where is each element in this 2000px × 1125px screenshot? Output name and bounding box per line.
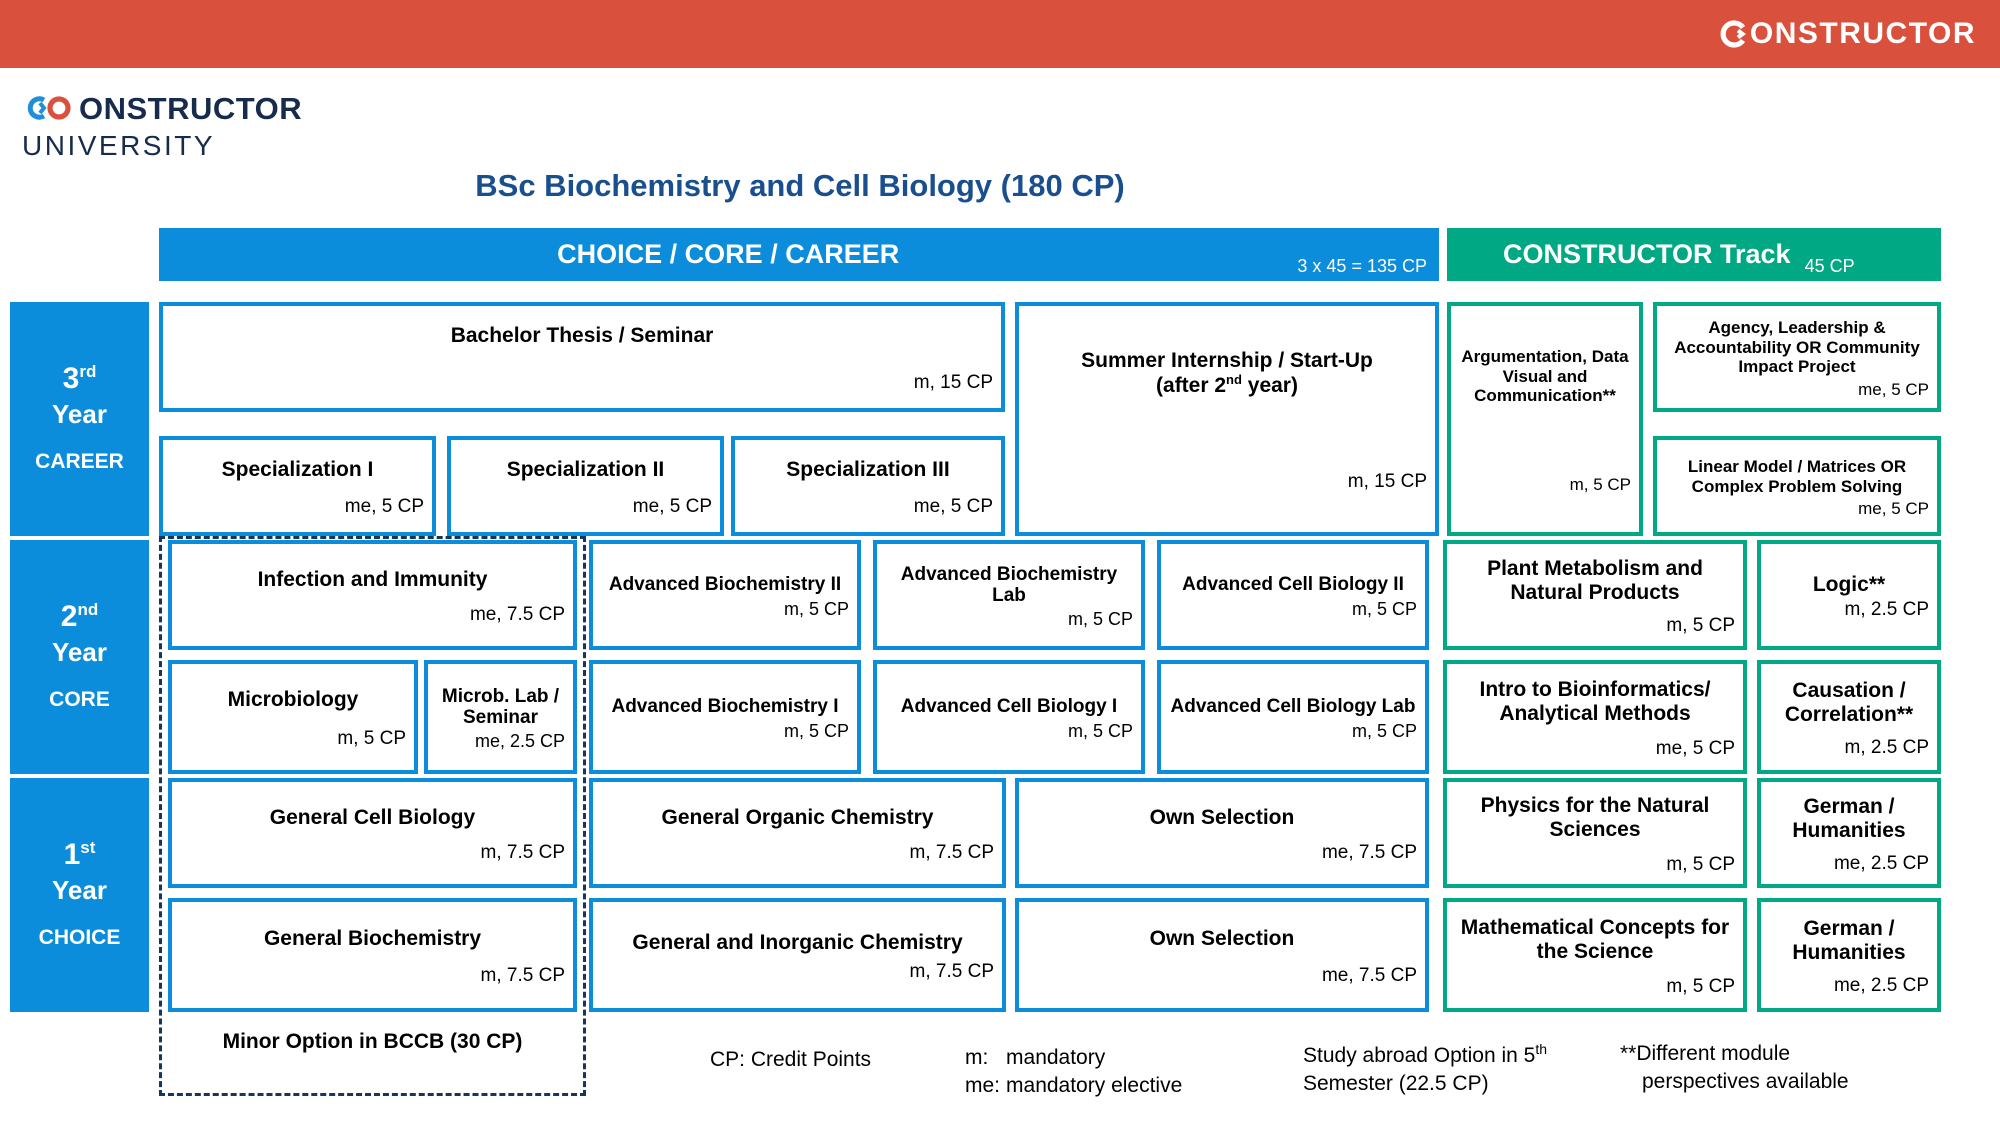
module-credits: me, 7.5 CP: [1027, 966, 1417, 985]
section-title-track: CONSTRUCTOR Track: [1447, 239, 1791, 270]
year-1-number: 1st: [64, 836, 96, 874]
module-mathematical-concepts[interactable]: Mathematical Concepts for the Science m,…: [1443, 898, 1747, 1012]
module-name: Specialization II: [459, 458, 712, 482]
module-advanced-biochemistry-lab[interactable]: Advanced Biochemistry Lab m, 5 CP: [873, 540, 1145, 650]
module-name: Summer Internship / Start-Up (after 2nd …: [1027, 349, 1427, 397]
module-credits: me, 7.5 CP: [180, 605, 565, 624]
module-agency-leadership[interactable]: Agency, Leadership & Accountability OR C…: [1653, 302, 1941, 412]
year-2-number: 2nd: [61, 598, 98, 636]
module-credits: m, 7.5 CP: [601, 962, 994, 981]
logo-primary-text: ONSTRUCTOR: [79, 93, 302, 124]
module-linear-model-matrices[interactable]: Linear Model / Matrices OR Complex Probl…: [1653, 436, 1941, 536]
module-specialization-3[interactable]: Specialization III me, 5 CP: [731, 436, 1005, 536]
page-title: BSc Biochemistry and Cell Biology (180 C…: [0, 168, 1600, 204]
module-name: Advanced Cell Biology Lab: [1169, 696, 1417, 717]
module-specialization-2[interactable]: Specialization II me, 5 CP: [447, 436, 724, 536]
module-advanced-biochemistry-1[interactable]: Advanced Biochemistry I m, 5 CP: [589, 660, 861, 774]
module-name: Advanced Cell Biology I: [885, 696, 1133, 717]
module-name: Physics for the Natural Sciences: [1455, 794, 1735, 841]
year-3-number: 3rd: [63, 360, 97, 398]
module-name: Own Selection: [1027, 806, 1417, 830]
module-physics-natural-sciences[interactable]: Physics for the Natural Sciences m, 5 CP: [1443, 778, 1747, 888]
section-note-main: 3 x 45 = 135 CP: [1297, 256, 1439, 281]
module-name: Intro to Bioinformatics/ Analytical Meth…: [1455, 678, 1735, 725]
module-credits: me, 5 CP: [171, 497, 424, 516]
module-credits: m, 15 CP: [1027, 472, 1427, 491]
minor-option-label: Minor Option in BCCB (30 CP): [159, 1030, 586, 1054]
module-name: Infection and Immunity: [180, 568, 565, 592]
module-credits: m, 5 CP: [1169, 722, 1417, 740]
module-plant-metabolism[interactable]: Plant Metabolism and Natural Products m,…: [1443, 540, 1747, 650]
sidebar-year-3: 3rd Year CAREER: [10, 302, 149, 536]
section-header-main: CHOICE / CORE / CAREER 3 x 45 = 135 CP: [159, 228, 1439, 281]
module-intro-bioinformatics[interactable]: Intro to Bioinformatics/ Analytical Meth…: [1443, 660, 1747, 774]
university-logo: ONSTRUCTOR UNIVERSITY: [22, 92, 302, 163]
module-name: Mathematical Concepts for the Science: [1455, 916, 1735, 963]
section-note-track: 45 CP: [1805, 256, 1867, 281]
year-1-word: Year: [52, 874, 107, 908]
section-title-main: CHOICE / CORE / CAREER: [159, 239, 1297, 270]
module-name: General and Inorganic Chemistry: [601, 931, 994, 955]
module-credits: m, 5 CP: [1455, 855, 1735, 874]
logo-secondary-text: UNIVERSITY: [22, 128, 302, 163]
module-advanced-biochemistry-2[interactable]: Advanced Biochemistry II m, 5 CP: [589, 540, 861, 650]
module-credits: m, 5 CP: [1169, 600, 1417, 618]
module-name: Plant Metabolism and Natural Products: [1455, 557, 1735, 604]
module-credits: m, 2.5 CP: [1769, 600, 1929, 619]
module-credits: me, 5 CP: [1455, 739, 1735, 758]
module-name: Argumentation, Data Visual and Communica…: [1459, 347, 1631, 405]
module-name: Advanced Biochemistry Lab: [885, 564, 1133, 607]
module-name: Own Selection: [1027, 927, 1417, 951]
module-credits: m, 5 CP: [1459, 476, 1631, 493]
legend-m-value: mandatory: [1006, 1044, 1188, 1072]
topbar-wordmark: ONSTRUCTOR: [1719, 17, 2000, 51]
module-name: Agency, Leadership & Accountability OR C…: [1665, 318, 1929, 376]
module-credits: m, 2.5 CP: [1769, 738, 1929, 757]
module-name: Logic**: [1769, 573, 1929, 597]
year-2-track: CORE: [49, 688, 110, 712]
module-logic[interactable]: Logic** m, 2.5 CP: [1757, 540, 1941, 650]
module-name: General Organic Chemistry: [601, 806, 994, 830]
module-causation-correlation[interactable]: Causation / Correlation** m, 2.5 CP: [1757, 660, 1941, 774]
module-name: Advanced Biochemistry II: [601, 574, 849, 595]
module-credits: m, 5 CP: [601, 722, 849, 740]
module-name: Bachelor Thesis / Seminar: [171, 324, 993, 348]
module-name: Microb. Lab / Seminar: [436, 686, 565, 729]
module-name: Causation / Correlation**: [1769, 679, 1929, 726]
module-credits: m, 5 CP: [1455, 616, 1735, 635]
module-credits: m, 5 CP: [601, 600, 849, 618]
module-name: Microbiology: [180, 688, 406, 712]
module-name: Specialization III: [743, 458, 993, 482]
module-credits: m, 7.5 CP: [180, 843, 565, 862]
module-infection-and-immunity[interactable]: Infection and Immunity me, 7.5 CP: [168, 540, 577, 650]
legend-m-key: m:: [965, 1044, 1006, 1072]
topbar-wordmark-text: ONSTRUCTOR: [1750, 17, 1976, 51]
legend-me-value: mandatory elective: [1006, 1072, 1188, 1100]
module-general-biochemistry[interactable]: General Biochemistry m, 7.5 CP: [168, 898, 577, 1012]
module-credits: me, 5 CP: [1665, 500, 1929, 517]
module-argumentation-data-visual[interactable]: Argumentation, Data Visual and Communica…: [1447, 302, 1643, 536]
module-microb-lab-seminar[interactable]: Microb. Lab / Seminar me, 2.5 CP: [424, 660, 577, 774]
module-general-cell-biology[interactable]: General Cell Biology m, 7.5 CP: [168, 778, 577, 888]
module-credits: m, 5 CP: [885, 610, 1133, 628]
module-credits: m, 5 CP: [180, 729, 406, 748]
module-microbiology[interactable]: Microbiology m, 5 CP: [168, 660, 418, 774]
module-name: General Cell Biology: [180, 806, 565, 830]
module-german-humanities-1[interactable]: German / Humanities me, 2.5 CP: [1757, 778, 1941, 888]
module-credits: m, 15 CP: [171, 373, 993, 392]
legend-me-key: me:: [965, 1072, 1006, 1100]
top-brand-bar: ONSTRUCTOR: [0, 0, 2000, 68]
module-name: Advanced Cell Biology II: [1169, 574, 1417, 595]
module-credits: me, 5 CP: [459, 497, 712, 516]
constructor-c-o-icon: [22, 92, 78, 124]
year-3-track: CAREER: [35, 450, 124, 474]
module-advanced-cell-biology-lab[interactable]: Advanced Cell Biology Lab m, 5 CP: [1157, 660, 1429, 774]
module-summer-internship[interactable]: Summer Internship / Start-Up (after 2nd …: [1015, 302, 1439, 536]
module-bachelor-thesis[interactable]: Bachelor Thesis / Seminar m, 15 CP: [159, 302, 1005, 412]
module-general-organic-chemistry[interactable]: General Organic Chemistry m, 7.5 CP: [589, 778, 1006, 888]
module-own-selection-2[interactable]: Own Selection me, 7.5 CP: [1015, 898, 1429, 1012]
module-credits: m, 7.5 CP: [180, 966, 565, 985]
section-header-track: CONSTRUCTOR Track 45 CP: [1447, 228, 1941, 281]
module-specialization-1[interactable]: Specialization I me, 5 CP: [159, 436, 436, 536]
module-name: Specialization I: [171, 458, 424, 482]
module-credits: me, 2.5 CP: [1769, 854, 1929, 873]
legend-module-perspectives: **Different module perspectives availabl…: [1620, 1040, 1849, 1097]
logo-primary-line: ONSTRUCTOR: [22, 92, 302, 124]
module-general-inorganic-chemistry[interactable]: General and Inorganic Chemistry m, 7.5 C…: [589, 898, 1006, 1012]
year-3-word: Year: [52, 398, 107, 432]
module-name: German / Humanities: [1769, 795, 1929, 842]
module-advanced-cell-biology-2[interactable]: Advanced Cell Biology II m, 5 CP: [1157, 540, 1429, 650]
module-name: General Biochemistry: [180, 927, 565, 951]
constructor-c-icon: [1719, 19, 1749, 49]
module-credits: me, 7.5 CP: [1027, 843, 1417, 862]
legend-credit-points: CP: Credit Points: [710, 1046, 871, 1074]
module-own-selection-1[interactable]: Own Selection me, 7.5 CP: [1015, 778, 1429, 888]
module-credits: m, 5 CP: [1455, 977, 1735, 996]
year-1-track: CHOICE: [39, 926, 121, 950]
legend-study-abroad-line2: Semester (22.5 CP): [1303, 1070, 1547, 1098]
legend-mandatory-keys: m: mandatory me: mandatory elective: [965, 1044, 1188, 1101]
module-name: Advanced Biochemistry I: [601, 696, 849, 717]
sidebar-year-1: 1st Year CHOICE: [10, 778, 149, 1012]
module-credits: me, 5 CP: [743, 497, 993, 516]
module-credits: me, 2.5 CP: [436, 732, 565, 750]
module-credits: m, 5 CP: [885, 722, 1133, 740]
legend-perspectives-line2: perspectives available: [1620, 1068, 1849, 1096]
module-name: Linear Model / Matrices OR Complex Probl…: [1665, 457, 1929, 496]
module-credits: me, 2.5 CP: [1769, 976, 1929, 995]
module-credits: m, 7.5 CP: [601, 843, 994, 862]
module-german-humanities-2[interactable]: German / Humanities me, 2.5 CP: [1757, 898, 1941, 1012]
module-advanced-cell-biology-1[interactable]: Advanced Cell Biology I m, 5 CP: [873, 660, 1145, 774]
year-2-word: Year: [52, 636, 107, 670]
legend-study-abroad: Study abroad Option in 5th Semester (22.…: [1303, 1040, 1547, 1099]
legend-perspectives-line1: **Different module: [1620, 1040, 1849, 1068]
module-name: German / Humanities: [1769, 917, 1929, 964]
module-credits: me, 5 CP: [1665, 381, 1929, 398]
sidebar-year-2: 2nd Year CORE: [10, 540, 149, 774]
legend-study-abroad-line1: Study abroad Option in 5th: [1303, 1040, 1547, 1070]
